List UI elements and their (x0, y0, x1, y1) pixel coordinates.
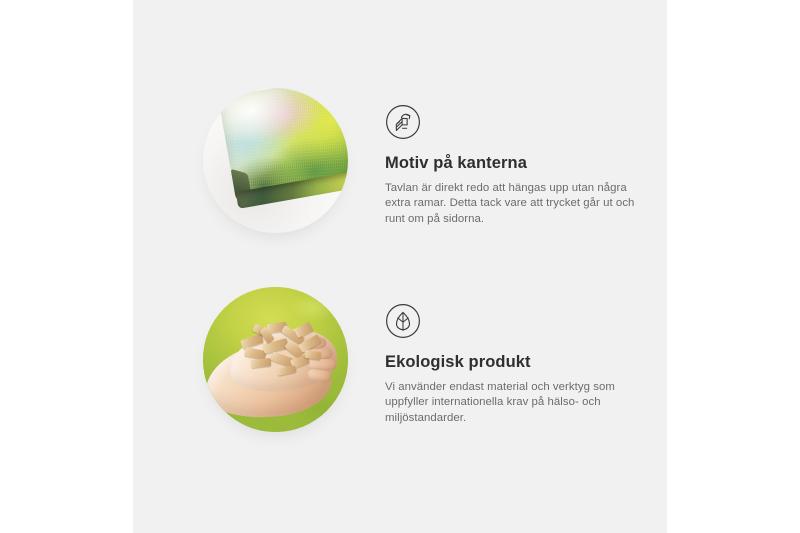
canvas-block (218, 88, 348, 218)
feature-1-title: Motiv på kanterna (385, 154, 657, 174)
feature-1-body: Tavlan är direkt redo att hängas upp uta… (385, 181, 647, 228)
feature-1-media (203, 88, 348, 233)
wood-chips (237, 323, 325, 377)
canvas-print-photo (203, 88, 348, 233)
feature-1-text: Motiv på kanterna Tavlan är direkt redo … (385, 88, 657, 227)
feature-2-media (203, 287, 348, 432)
canvas-wrapped-edge-icon (385, 104, 421, 140)
canvas-scene (203, 88, 348, 233)
feature-2-text: Ekologisk produkt Vi använder endast mat… (385, 287, 657, 426)
content-panel: Motiv på kanterna Tavlan är direkt redo … (133, 0, 667, 533)
hands-wood-chips-photo (203, 287, 348, 432)
feature-2-title: Ekologisk produkt (385, 353, 657, 373)
meadow-background (203, 287, 348, 432)
infographic-page: Motiv på kanterna Tavlan är direkt redo … (0, 0, 800, 533)
leaf-icon (385, 303, 421, 339)
feature-2-body: Vi använder endast material och verktyg … (385, 380, 647, 427)
